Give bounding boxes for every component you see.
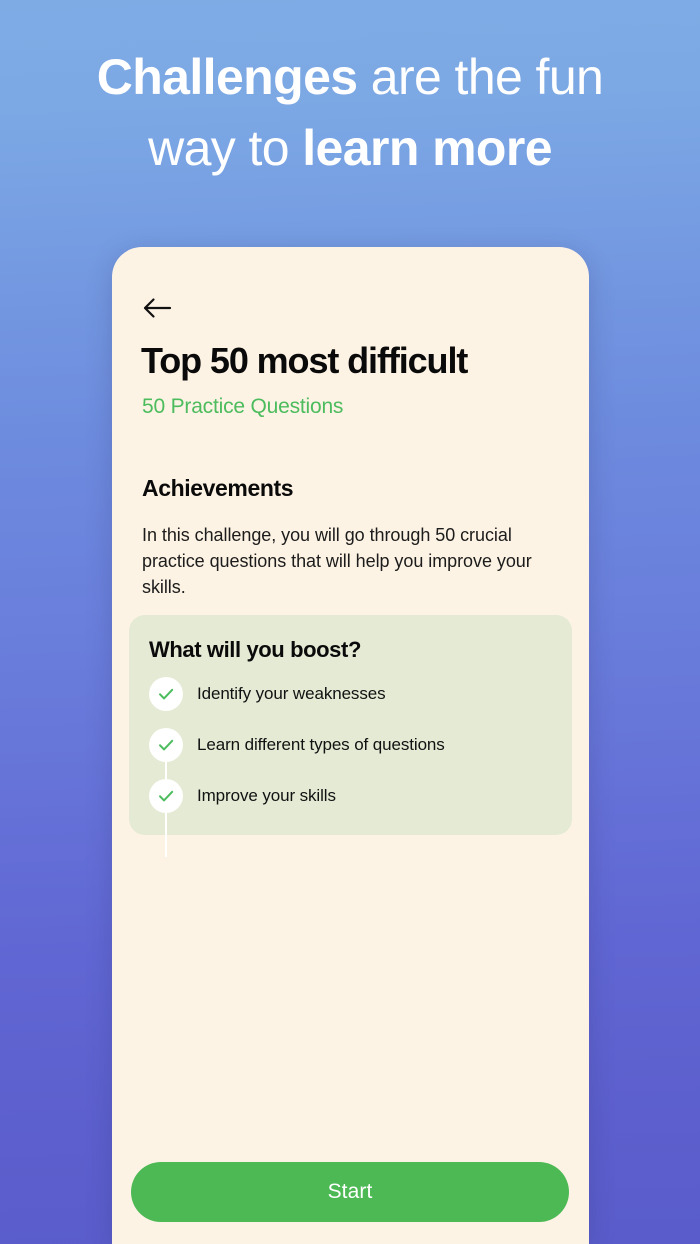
promo-screen: Challenges are the fun way to learn more…	[0, 0, 700, 1244]
page-title: Top 50 most difficult	[141, 339, 571, 383]
list-item: Learn different types of questions	[149, 728, 549, 762]
boost-list: Identify your weaknesses Learn different…	[149, 677, 549, 813]
page-subtitle: 50 Practice Questions	[142, 395, 343, 419]
achievements-heading: Achievements	[142, 475, 293, 502]
check-icon	[149, 677, 183, 711]
list-item-label: Improve your skills	[197, 786, 336, 806]
headline-strong-2: learn more	[302, 120, 552, 176]
start-button[interactable]: Start	[131, 1162, 569, 1222]
list-item-label: Learn different types of questions	[197, 735, 445, 755]
headline-rest-2: way to	[148, 120, 302, 176]
back-button[interactable]	[142, 293, 182, 323]
headline-strong-1: Challenges	[97, 49, 358, 105]
list-item: Identify your weaknesses	[149, 677, 549, 711]
phone-mockup-card: Top 50 most difficult 50 Practice Questi…	[112, 247, 589, 1244]
boost-card-title: What will you boost?	[149, 637, 361, 663]
achievements-description: In this challenge, you will go through 5…	[142, 522, 554, 600]
list-item: Improve your skills	[149, 779, 549, 813]
arrow-left-icon	[142, 297, 172, 319]
boost-card: What will you boost? Identify your weakn…	[129, 615, 572, 835]
headline-rest-1: are the fun	[357, 49, 603, 105]
check-icon	[149, 728, 183, 762]
promo-headline: Challenges are the fun way to learn more	[0, 42, 700, 184]
list-item-label: Identify your weaknesses	[197, 684, 385, 704]
check-icon	[149, 779, 183, 813]
